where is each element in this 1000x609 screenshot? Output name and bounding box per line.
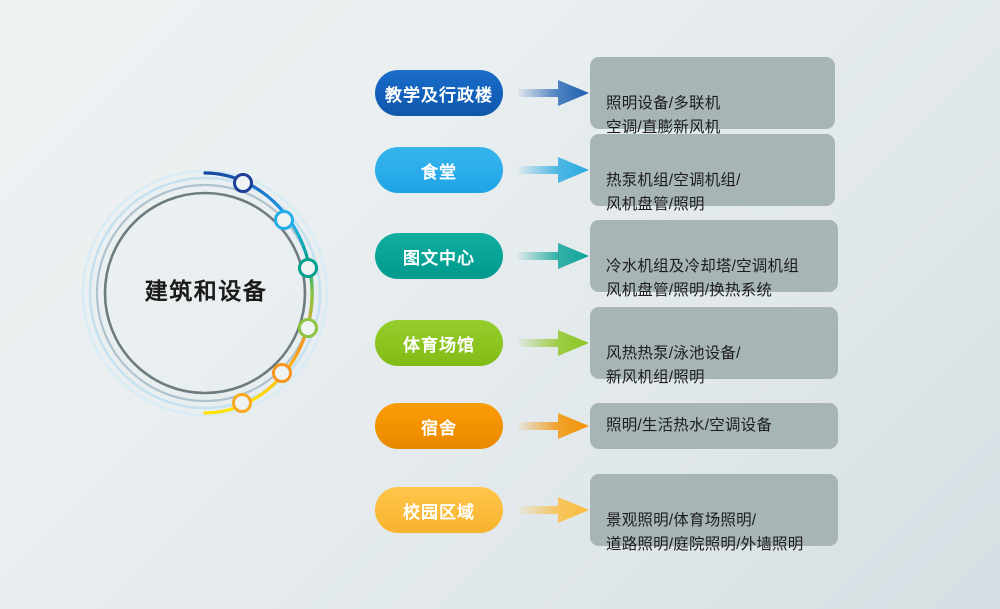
detail-box-0: 照明设备/多联机 空调/直膨新风机: [590, 57, 835, 129]
category-pill-label-1: 食堂: [421, 158, 457, 183]
category-pill-1[interactable]: 食堂: [375, 147, 503, 193]
arrow-icon-5: [518, 495, 590, 525]
arrow-icon-2: [518, 241, 590, 271]
arrow-icon-0: [518, 78, 590, 108]
arrow-icon-4: [518, 411, 590, 441]
emblem-node-2[interactable]: [300, 260, 317, 277]
emblem-node-5[interactable]: [234, 395, 251, 412]
emblem-node-0[interactable]: [235, 175, 252, 192]
emblem-node-3[interactable]: [300, 320, 317, 337]
detail-box-1: 热泵机组/空调机组/ 风机盘管/照明: [590, 134, 835, 206]
circular-emblem: 建筑和设备: [100, 158, 370, 428]
category-pill-3[interactable]: 体育场馆: [375, 320, 503, 366]
category-pill-4[interactable]: 宿舍: [375, 403, 503, 449]
category-pill-2[interactable]: 图文中心: [375, 233, 503, 279]
category-pill-label-2: 图文中心: [403, 244, 475, 269]
detail-box-4: 照明/生活热水/空调设备: [590, 403, 838, 449]
diagram-canvas: 建筑和设备 教学及行政楼 照明设备/多联机 空调/直膨新风机: [0, 0, 1000, 609]
emblem-node-4[interactable]: [274, 365, 291, 382]
arrow-icon-1: [518, 155, 590, 185]
detail-box-text-1: 热泵机组/空调机组/ 风机盘管/照明: [606, 172, 741, 213]
detail-box-text-3: 风热热泵/泳池设备/ 新风机组/照明: [606, 345, 741, 386]
category-pill-0[interactable]: 教学及行政楼: [375, 70, 503, 116]
category-pill-label-4: 宿舍: [421, 414, 457, 439]
detail-box-3: 风热热泵/泳池设备/ 新风机组/照明: [590, 307, 838, 379]
detail-box-text-0: 照明设备/多联机 空调/直膨新风机: [606, 95, 720, 136]
category-pill-label-3: 体育场馆: [403, 331, 475, 356]
page-title: 建筑和设备: [100, 276, 312, 306]
category-pill-label-0: 教学及行政楼: [385, 81, 493, 106]
category-pill-5[interactable]: 校园区域: [375, 487, 503, 533]
detail-box-text-2: 冷水机组及冷却塔/空调机组 风机盘管/照明/换热系统: [606, 258, 799, 299]
detail-box-5: 景观照明/体育场照明/ 道路照明/庭院照明/外墙照明: [590, 474, 838, 546]
detail-box-2: 冷水机组及冷却塔/空调机组 风机盘管/照明/换热系统: [590, 220, 838, 292]
detail-box-text-5: 景观照明/体育场照明/ 道路照明/庭院照明/外墙照明: [606, 512, 803, 553]
detail-box-text-4: 照明/生活热水/空调设备: [606, 414, 772, 438]
arrow-icon-3: [518, 328, 590, 358]
category-pill-label-5: 校园区域: [403, 498, 475, 523]
emblem-node-1[interactable]: [276, 212, 293, 229]
